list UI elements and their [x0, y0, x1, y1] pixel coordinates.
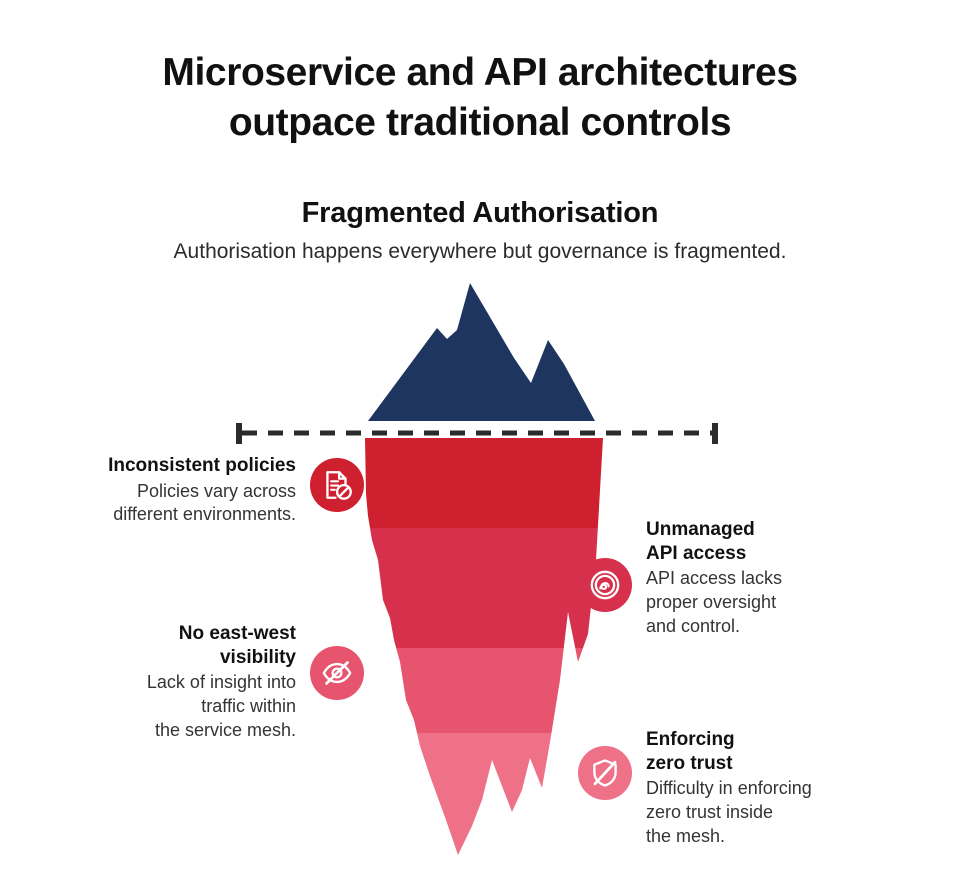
- callout-text-block: Inconsistent policies Policies vary acro…: [108, 452, 296, 527]
- callout-no-east-west-visibility[interactable]: No east-west visibility Lack of insight …: [94, 620, 364, 743]
- api-link-icon[interactable]: [578, 558, 632, 612]
- callout-text-block: Unmanaged API access API access lacks pr…: [646, 518, 782, 639]
- infographic-canvas: Microservice and API architectures outpa…: [0, 0, 960, 892]
- callout-text-block: No east-west visibility Lack of insight …: [147, 620, 296, 743]
- callout-description: Lack of insight into traffic within the …: [147, 671, 296, 743]
- callout-description: Difficulty in enforcing zero trust insid…: [646, 777, 812, 849]
- callout-enforcing-zero-trust[interactable]: Enforcing zero trust Difficulty in enfor…: [578, 728, 908, 849]
- callout-unmanaged-api-access[interactable]: Unmanaged API access API access lacks pr…: [578, 518, 908, 639]
- callout-title: Inconsistent policies: [108, 454, 296, 478]
- callout-text-block: Enforcing zero trust Difficulty in enfor…: [646, 728, 812, 849]
- callout-title: No east-west visibility: [147, 622, 296, 669]
- iceberg-tip-shape: [368, 283, 595, 421]
- callout-inconsistent-policies[interactable]: Inconsistent policies Policies vary acro…: [44, 452, 364, 527]
- callout-description: API access lacks proper oversight and co…: [646, 567, 782, 639]
- callout-title: Unmanaged API access: [646, 518, 782, 565]
- document-blocked-icon[interactable]: [310, 458, 364, 512]
- shield-off-icon[interactable]: [578, 746, 632, 800]
- iceberg-band-1: [340, 436, 620, 528]
- eye-off-icon[interactable]: [310, 646, 364, 700]
- callout-description: Policies vary across different environme…: [108, 480, 296, 528]
- iceberg-band-3: [340, 648, 620, 733]
- callout-title: Enforcing zero trust: [646, 728, 812, 775]
